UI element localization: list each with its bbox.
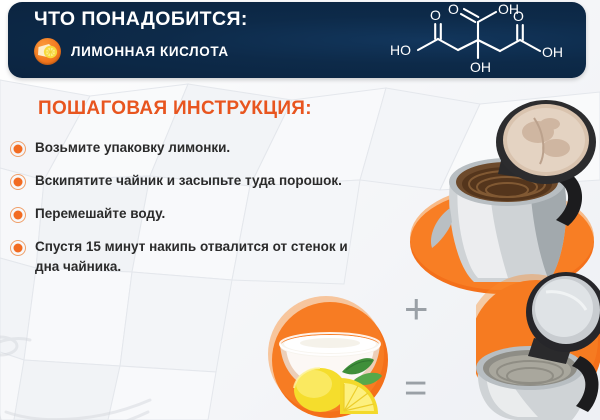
lemon-icon <box>34 38 61 65</box>
formula-label-ho-left: HO <box>390 42 411 58</box>
kettle-watermark-icon <box>0 322 162 420</box>
infographic-root: ЧТО ПОНАДОБИТСЯ: ЛИМОННАЯ КИСЛОТА <box>0 0 600 420</box>
list-item: Перемешайте воду. <box>10 204 358 223</box>
formula-label-oh-center: OH <box>470 59 491 75</box>
requirements-banner: ЧТО ПОНАДОБИТСЯ: ЛИМОННАЯ КИСЛОТА <box>8 2 586 78</box>
step-text: Перемешайте воду. <box>35 204 165 223</box>
page-title: ПОШАГОВАЯ ИНСТРУКЦИЯ: <box>38 98 312 120</box>
kettle-with-limescale-photo <box>398 96 600 296</box>
step-text: Спустя 15 минут накипь отвалится от стен… <box>35 237 358 275</box>
ingredient-label: ЛИМОННАЯ КИСЛОТА <box>71 44 229 59</box>
bowl-of-citric-acid-with-lemons-photo <box>262 296 404 420</box>
formula-label-o-right: O <box>513 8 524 24</box>
ingredient-item: ЛИМОННАЯ КИСЛОТА <box>34 38 229 65</box>
bullet-icon <box>10 141 26 157</box>
step-text: Возьмите упаковку лимонки. <box>35 138 230 157</box>
formula-label-o-left: O <box>430 7 441 23</box>
list-item: Возьмите упаковку лимонки. <box>10 138 358 157</box>
equals-operator: = <box>404 368 427 408</box>
banner-title: ЧТО ПОНАДОБИТСЯ: <box>34 8 248 31</box>
clean-kettle-photo <box>476 272 600 420</box>
list-item: Спустя 15 минут накипь отвалится от стен… <box>10 237 358 275</box>
citric-acid-structure-icon: HO O O OH OH O OH <box>382 2 582 78</box>
bullet-icon <box>10 207 26 223</box>
formula-label-o-top: O <box>448 2 459 17</box>
list-item: Вскипятите чайник и засыпьте туда порошо… <box>10 171 358 190</box>
bullet-icon <box>10 240 26 256</box>
steps-list: Возьмите упаковку лимонки. Вскипятите ча… <box>10 138 358 290</box>
bullet-icon <box>10 174 26 190</box>
plus-operator: + <box>404 288 429 330</box>
step-text: Вскипятите чайник и засыпьте туда порошо… <box>35 171 342 190</box>
formula-label-oh-right: OH <box>542 44 563 60</box>
